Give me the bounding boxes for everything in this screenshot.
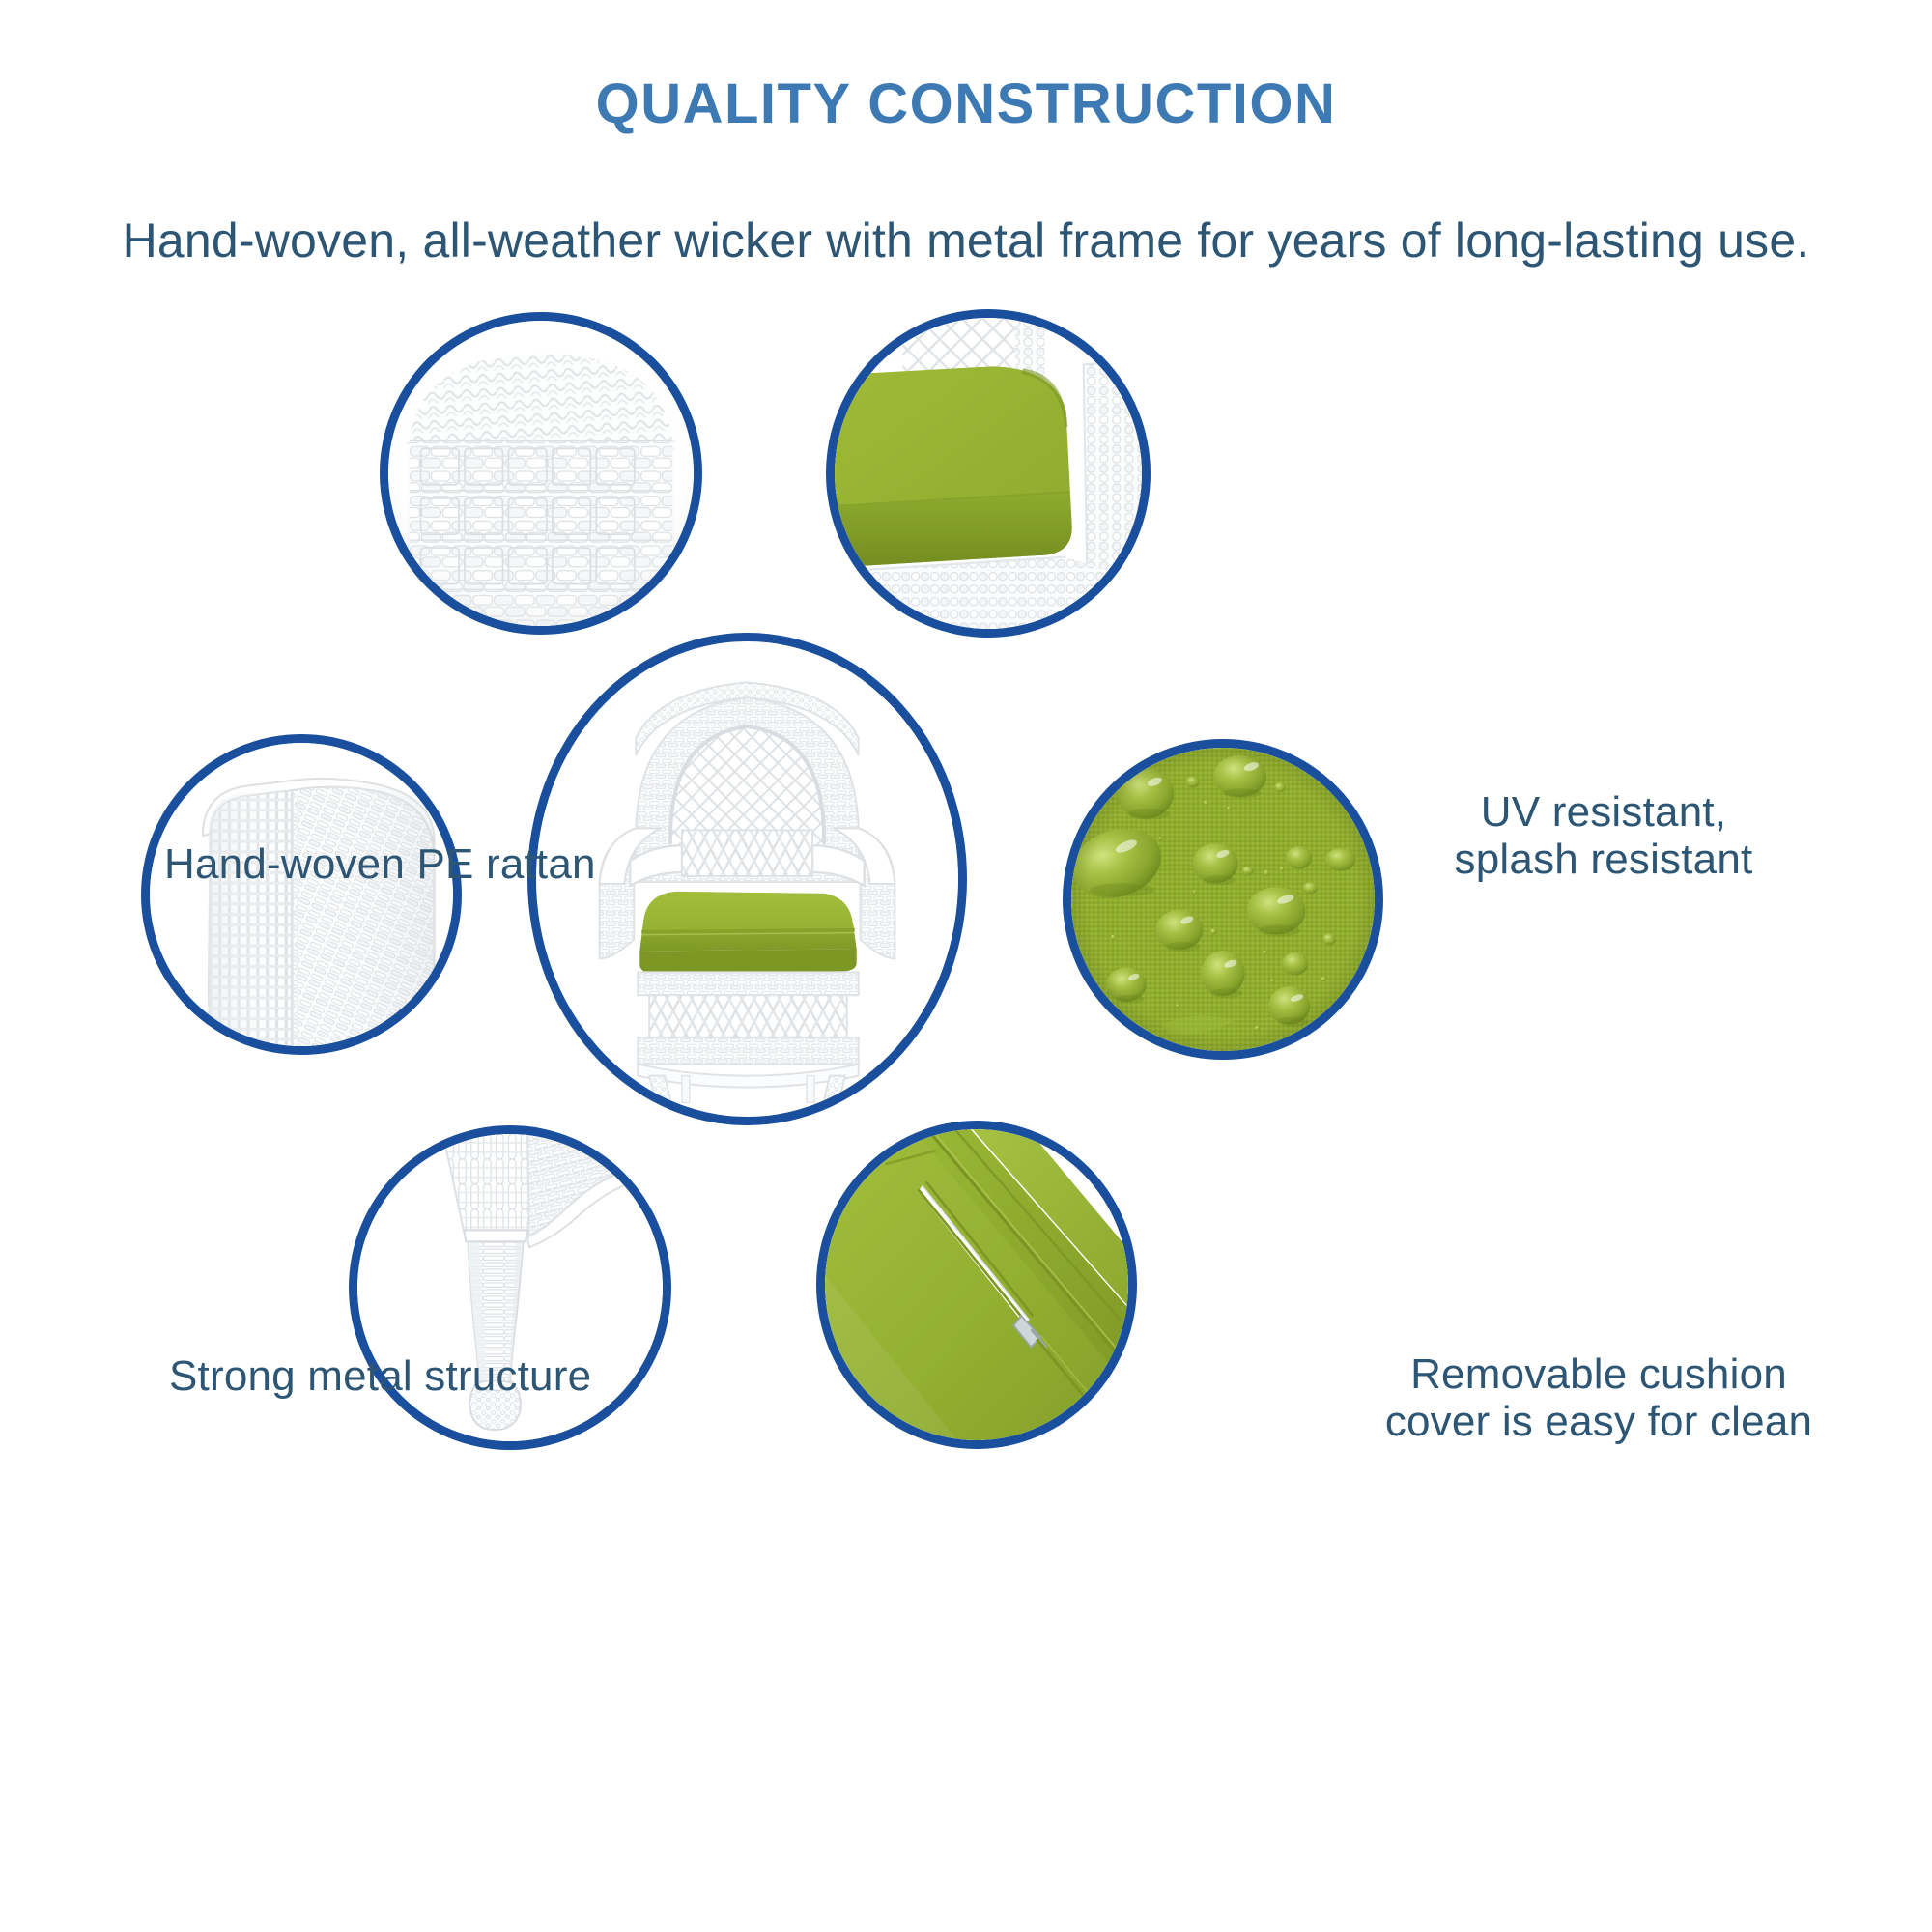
- feature-circle-uv-splash-resistant: [826, 309, 1151, 638]
- green-cushion-corner-icon: [835, 318, 1142, 629]
- feature-label-removable-cushion-cover: Removable cushion cover is easy for clea…: [1309, 1350, 1889, 1446]
- green-cushion-zipper-icon: [825, 1129, 1128, 1440]
- feature-label-uv-splash-resistant: UV resistant, splash resistant: [1372, 788, 1835, 884]
- page-subtitle: Hand-woven, all-weather wicker with meta…: [0, 214, 1932, 268]
- wicker-corner-frame-icon: [150, 743, 453, 1046]
- feature-circle-chair-leg-detail: [349, 1125, 671, 1450]
- feature-label-strong-metal-structure: Strong metal structure: [169, 1352, 826, 1400]
- water-droplets-on-green-fabric-icon: [1071, 748, 1375, 1051]
- feature-circle-strong-metal-structure: [141, 734, 462, 1055]
- feature-label-hand-woven-pe-rattan: Hand-woven PE rattan: [164, 840, 782, 888]
- woven-rattan-texture-icon: [388, 321, 694, 626]
- feature-circle-hand-woven-pe-rattan: [380, 312, 702, 635]
- page-title: QUALITY CONSTRUCTION: [0, 75, 1932, 134]
- feature-circle-cushion-zipper-detail: [816, 1121, 1137, 1449]
- product-feature-infographic: QUALITY CONSTRUCTION Hand-woven, all-wea…: [0, 0, 1932, 1932]
- feature-circle-removable-cushion-cover: [1063, 739, 1383, 1060]
